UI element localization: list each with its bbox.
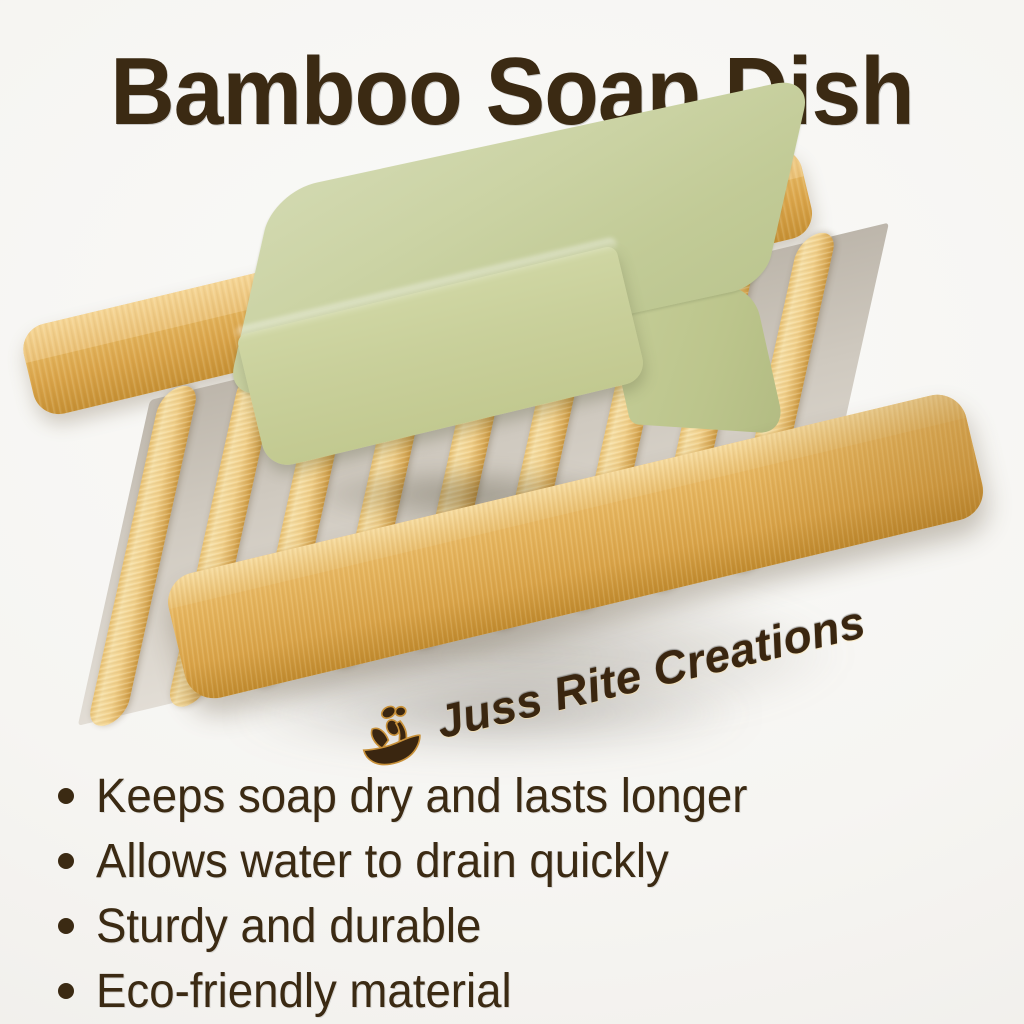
- bullet-icon: [58, 853, 74, 869]
- product-photo: Juss Rite Creations: [0, 150, 1024, 770]
- product-image-card: Bamboo Soap Dish: [0, 0, 1024, 1024]
- mortar-and-pestle-logo: [350, 695, 430, 775]
- bamboo-soap-dish: Juss Rite Creations: [0, 150, 1024, 770]
- soap-bar: [226, 186, 724, 496]
- list-item: Keeps soap dry and lasts longer: [58, 768, 998, 833]
- feature-text: Allows water to drain quickly: [96, 833, 669, 891]
- bullet-icon: [58, 918, 74, 934]
- bullet-icon: [58, 788, 74, 804]
- feature-list: Keeps soap dry and lasts longer Allows w…: [58, 768, 998, 1024]
- list-item: Sturdy and durable: [58, 898, 998, 963]
- feature-text: Sturdy and durable: [96, 898, 481, 956]
- list-item: Allows water to drain quickly: [58, 833, 998, 898]
- page-title: Bamboo Soap Dish: [36, 44, 988, 140]
- feature-text: Eco-friendly material: [96, 963, 512, 1021]
- bullet-icon: [58, 983, 74, 999]
- feature-text: Keeps soap dry and lasts longer: [96, 768, 747, 826]
- list-item: Eco-friendly material: [58, 963, 998, 1024]
